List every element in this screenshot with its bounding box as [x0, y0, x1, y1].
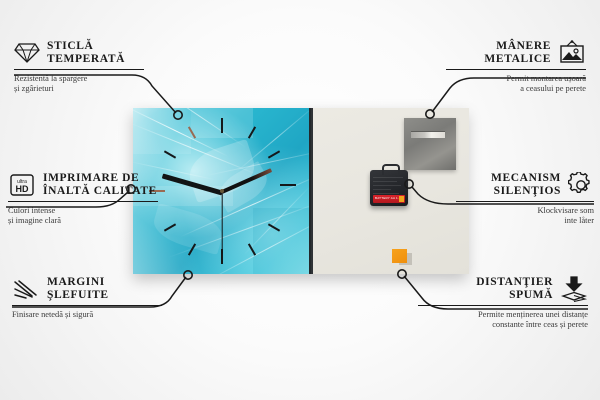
callout-title-line: STICLĂ	[47, 40, 125, 53]
callout-desc-line: inte låter	[456, 216, 594, 226]
callout-divider	[12, 305, 162, 306]
callout-title-line: MÂNERE	[496, 40, 551, 53]
clock-hub	[220, 189, 224, 193]
callout-foam-spacer: DISTANŢIER SPUMĂ Permite menținerea unei…	[418, 276, 588, 330]
callout-title-line: SILENŢIOS	[494, 185, 561, 198]
diamond-icon	[14, 42, 40, 64]
svg-text:HD: HD	[16, 184, 29, 194]
callout-desc-line: Culori intense	[8, 206, 158, 216]
diagonal-lines-icon	[12, 278, 40, 300]
callout-divider	[14, 69, 144, 70]
callout-desc-line: Rezistentă la spargere	[14, 74, 144, 84]
mechanism-hook	[382, 164, 400, 175]
callout-desc-line: Permite menținerea unei distanțe	[418, 310, 588, 320]
callout-divider	[8, 201, 158, 202]
hour-tick	[268, 150, 280, 158]
callout-divider	[446, 69, 586, 70]
callout-tempered-glass: STICLĂ TEMPERATĂ Rezistentă la spargere …	[14, 40, 144, 94]
callout-polished-edges: MARGINI ŞLEFUITE Finisare netedă și sigu…	[12, 276, 162, 320]
callout-metal-handles: MÂNERE METALICE Permit montarea ușoară a…	[446, 40, 586, 94]
hanging-frame-icon	[558, 40, 586, 66]
infographic-canvas: BATTERY AA 1.5V STI	[0, 0, 600, 400]
battery: BATTERY AA 1.5V	[373, 195, 405, 203]
arrow-down-layer-icon	[560, 276, 588, 302]
callout-desc-line: Finisare netedă și sigură	[12, 310, 162, 320]
foam-spacer	[392, 249, 407, 263]
second-hand	[221, 192, 222, 254]
callout-title-line: TEMPERATĂ	[47, 53, 125, 66]
ultra-hd-icon: ultra HD	[8, 173, 36, 197]
callout-silent-mechanism: MECANISM SILENŢIOS Klockvisare som inte …	[456, 172, 594, 226]
callout-title-line: ÎNALTĂ CALITATE	[43, 185, 157, 198]
hour-tick	[221, 118, 223, 133]
callout-title-line: METALICE	[484, 53, 551, 66]
metal-hanger-plate	[404, 118, 456, 170]
callout-divider	[456, 201, 594, 202]
gear-icon	[568, 172, 594, 198]
callout-title-line: SPUMĂ	[509, 289, 553, 302]
clock-face	[133, 108, 311, 274]
callout-title-line: MECANISM	[491, 172, 561, 185]
callout-desc-line: Permit montarea ușoară	[446, 74, 586, 84]
callout-desc-line: Klockvisare som	[456, 206, 594, 216]
callout-title-line: IMPRIMARE DE	[43, 172, 157, 185]
callout-title-line: ŞLEFUITE	[47, 289, 109, 302]
callout-desc-line: a ceasului pe perete	[446, 84, 586, 94]
callout-desc-line: constante între ceas și perete	[418, 320, 588, 330]
battery-positive-tip	[399, 196, 404, 202]
callout-divider	[418, 305, 588, 306]
callout-high-quality-print: ultra HD IMPRIMARE DE ÎNALTĂ CALITATE Cu…	[8, 172, 158, 226]
hour-tick	[280, 184, 296, 186]
callout-title-line: MARGINI	[47, 276, 109, 289]
callout-desc-line: și zgârieturi	[14, 84, 144, 94]
callout-desc-line: și imagine clară	[8, 216, 158, 226]
clock-mechanism: BATTERY AA 1.5V	[370, 170, 408, 206]
hanger-slot	[411, 131, 445, 138]
callout-title-line: DISTANŢIER	[476, 276, 553, 289]
